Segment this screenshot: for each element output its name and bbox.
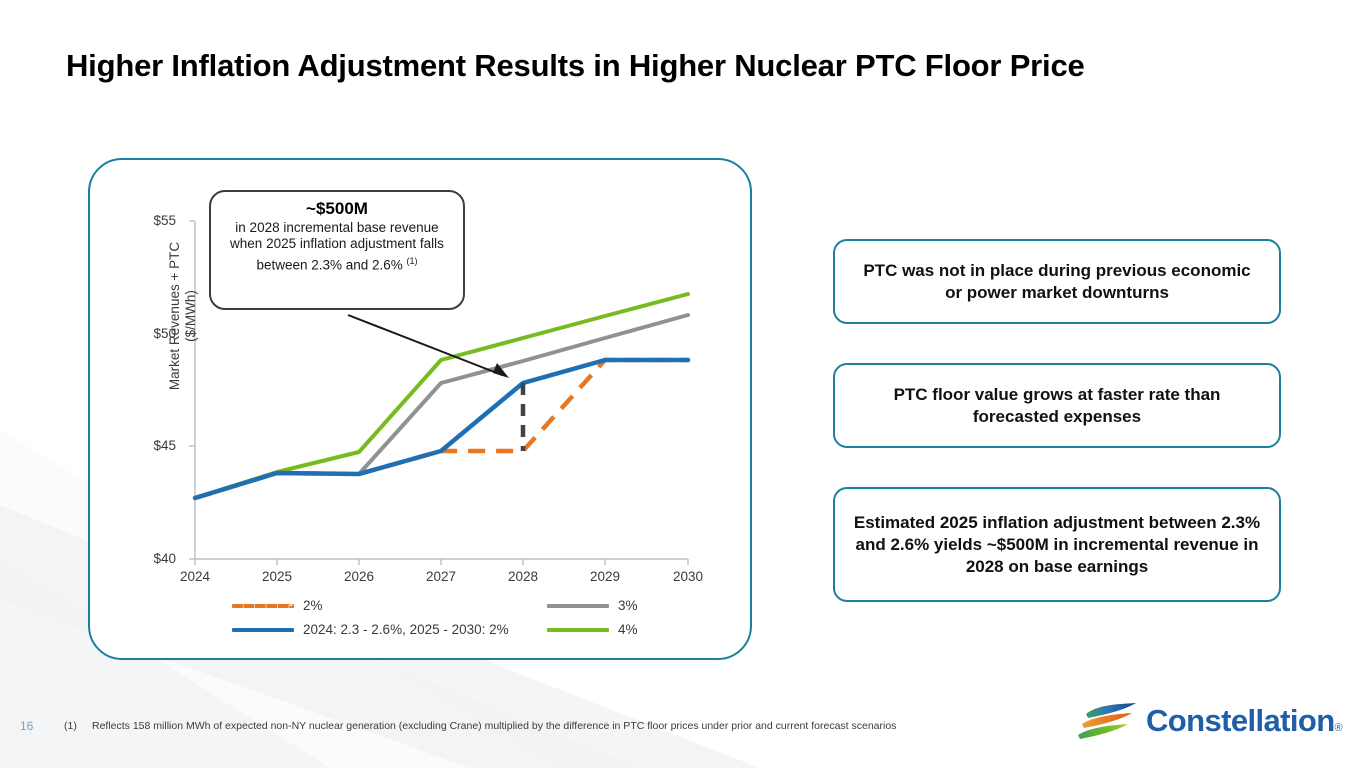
- callout-box-ptc-floor-growth: PTC floor value grows at faster rate tha…: [833, 363, 1281, 448]
- legend-label-blue-scenario: 2024: 2.3 - 2.6%, 2025 - 2030: 2%: [303, 622, 509, 637]
- legend-swatch-blue-scenario: [232, 628, 294, 632]
- legend-label-4pct: 4%: [618, 622, 638, 637]
- constellation-wordmark: Constellation®: [1146, 703, 1342, 739]
- callout-box-2-text: Estimated 2025 inflation adjustment betw…: [853, 512, 1261, 578]
- y-axis-title-line2: ($/MWh): [183, 290, 198, 342]
- x-tick-label-2026: 2026: [329, 569, 389, 584]
- legend-item-4pct[interactable]: 4%: [547, 622, 638, 637]
- series-line-3pct: [195, 315, 688, 498]
- x-tick-label-2025: 2025: [247, 569, 307, 584]
- y-axis-title-line1: Market Revenues + PTC: [167, 242, 182, 390]
- chart-callout-bubble: ~$500Min 2028 incremental base revenue w…: [209, 190, 465, 310]
- legend-swatch-3pct: [547, 604, 609, 608]
- constellation-logo: Constellation®: [1078, 700, 1350, 752]
- series-line-4pct: [195, 294, 688, 498]
- y-tick-label-55: $55: [136, 213, 176, 228]
- footnote-marker: (1): [64, 720, 77, 732]
- callout-box-1-text: PTC floor value grows at faster rate tha…: [853, 384, 1261, 428]
- legend-label-3pct: 3%: [618, 598, 638, 613]
- footnote-text: Reflects 158 million MWh of expected non…: [92, 720, 896, 732]
- legend-swatch-2pct: [232, 604, 294, 608]
- y-tick-label-45: $45: [136, 438, 176, 453]
- x-tick-label-2028: 2028: [493, 569, 553, 584]
- chart-legend: 2% 3% 2024: 2.3 - 2.6%, 2025 - 2030: 2% …: [232, 598, 702, 646]
- callout-footnote-ref: (1): [407, 256, 418, 266]
- callout-box-0-text: PTC was not in place during previous eco…: [853, 260, 1261, 304]
- constellation-logo-mark: [1078, 702, 1140, 746]
- y-tick-label-40: $40: [136, 551, 176, 566]
- registered-mark: ®: [1335, 722, 1343, 734]
- legend-label-2pct: 2%: [303, 598, 323, 613]
- page-title: Higher Inflation Adjustment Results in H…: [66, 48, 1085, 84]
- x-tick-label-2029: 2029: [575, 569, 635, 584]
- x-tick-label-2030: 2030: [658, 569, 718, 584]
- page-number: 16: [20, 719, 33, 733]
- series-line-blue-scenario: [195, 360, 688, 498]
- x-tick-label-2027: 2027: [411, 569, 471, 584]
- logo-word-text: Constellation: [1146, 703, 1335, 738]
- legend-item-2pct[interactable]: 2%: [232, 598, 323, 613]
- y-axis-title: Market Revenues + PTC ($/MWh): [167, 231, 199, 401]
- legend-swatch-4pct: [547, 628, 609, 632]
- legend-item-blue-scenario[interactable]: 2024: 2.3 - 2.6%, 2025 - 2030: 2%: [232, 622, 509, 637]
- legend-item-3pct[interactable]: 3%: [547, 598, 638, 613]
- x-tick-label-2024: 2024: [165, 569, 225, 584]
- callout-box-ptc-downturns: PTC was not in place during previous eco…: [833, 239, 1281, 324]
- callout-headline: ~$500M: [221, 201, 453, 218]
- callout-box-estimated-adjustment: Estimated 2025 inflation adjustment betw…: [833, 487, 1281, 602]
